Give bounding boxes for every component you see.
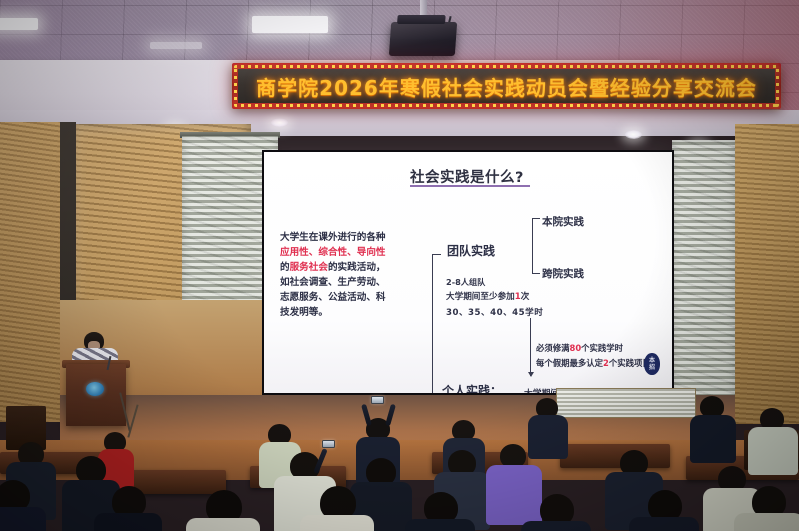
led-display-face: 商学院2026年寒假社会实践动员会暨经验分享交流会 — [238, 69, 775, 103]
audience-body — [300, 515, 374, 531]
definition-line-4: 如社会调查、生产劳动、 — [280, 275, 432, 290]
arrow-down-icon — [530, 318, 531, 376]
definition-line-3: 的服务社会的实践活动， — [280, 260, 432, 275]
team-detail-hours: 30、35、40、45学时 — [446, 306, 543, 318]
definition-line-2-highlight: 应用性、综合性、导向性 — [280, 245, 432, 260]
ceiling-tube-light-mid — [150, 42, 202, 49]
bracket-main — [432, 254, 441, 393]
slide-title: 社会实践是什么? — [410, 166, 524, 187]
slide-title-underline — [410, 185, 530, 187]
frequency-suffix: 次 — [521, 292, 530, 302]
ceiling-tube-light-right — [252, 16, 328, 33]
wall-wood-right — [735, 124, 799, 424]
bracket-team-split — [532, 218, 540, 274]
frequency-prefix: 大学期间至少参加 — [446, 292, 515, 302]
requirement-total-hours: 必须修满80个实践学时 — [536, 342, 623, 354]
audience-body — [486, 465, 542, 525]
definition-line-3-highlight: 服务社会 — [290, 262, 328, 273]
smartphone-icon — [322, 440, 335, 448]
node-team-practice: 团队实践 — [447, 242, 495, 259]
wall-blind-right — [672, 140, 736, 412]
req1-suffix: 个实践学时 — [581, 343, 623, 353]
led-banner: 商学院2026年寒假社会实践动员会暨经验分享交流会 — [232, 63, 781, 109]
audience-body — [734, 513, 799, 531]
rear-glass-partition — [556, 388, 696, 418]
req1-number: 80 — [570, 343, 582, 353]
podium-emblem-icon — [86, 382, 104, 396]
audience-body — [94, 513, 162, 531]
team-detail-frequency: 大学期间至少参加1次 — [446, 290, 529, 302]
req2-prefix: 每个假期最多认定 — [536, 358, 603, 368]
downlight-6 — [625, 130, 642, 139]
seal-char-2: 招 — [649, 364, 655, 371]
slide-seal-stamp: 本 招 — [644, 353, 660, 375]
projection-screen: 社会实践是什么? 大学生在课外进行的各种 应用性、综合性、导向性 的服务社会的实… — [262, 150, 674, 395]
req1-prefix: 必须修满 — [536, 343, 570, 353]
audience-body — [629, 517, 699, 531]
slide-definition-block: 大学生在课外进行的各种 应用性、综合性、导向性 的服务社会的实践活动， 如社会调… — [280, 230, 432, 320]
node-branch-own-college: 本院实践 — [542, 214, 584, 229]
node-individual-practice: 个人实践： — [442, 382, 502, 393]
seal-char-1: 本 — [649, 357, 655, 364]
node-branch-cross-college: 跨院实践 — [542, 266, 584, 281]
definition-line-3-prefix: 的 — [280, 262, 290, 273]
definition-line-1: 大学生在课外进行的各种 — [280, 230, 432, 245]
audience-body — [521, 521, 591, 531]
definition-line-3-suffix: 的实践活动， — [328, 262, 386, 273]
definition-line-5: 志愿服务、公益活动、科 — [280, 290, 432, 305]
audience-body — [405, 519, 475, 531]
audience-body — [186, 518, 260, 531]
audience-body — [0, 507, 46, 531]
ceiling-tube-light-left — [0, 18, 38, 30]
audience-body — [528, 415, 568, 459]
smartphone-icon — [371, 396, 384, 404]
wall-wood-far-left — [0, 122, 60, 422]
bench-row-right-2 — [560, 444, 670, 468]
audience-body — [748, 427, 798, 475]
slide-diagram-tree: 团队实践 本院实践 跨院实践 2-8人组队 大学期间至少参加1次 30、35、4… — [432, 196, 672, 393]
audience-body — [690, 415, 736, 463]
led-banner-text: 商学院2026年寒假社会实践动员会暨经验分享交流会 — [256, 72, 757, 101]
team-detail-group-size: 2-8人组队 — [446, 276, 485, 288]
auditorium-scene: 商学院2026年寒假社会实践动员会暨经验分享交流会 社会实践是什么? 大学生在课… — [0, 0, 799, 531]
ceiling-projector — [389, 22, 457, 56]
requirement-max-projects: 每个假期最多认定2个实践项目 — [536, 357, 651, 369]
downlight-5 — [271, 118, 288, 127]
slide-content: 社会实践是什么? 大学生在课外进行的各种 应用性、综合性、导向性 的服务社会的实… — [264, 152, 672, 393]
definition-line-6: 技发明等。 — [280, 305, 432, 320]
